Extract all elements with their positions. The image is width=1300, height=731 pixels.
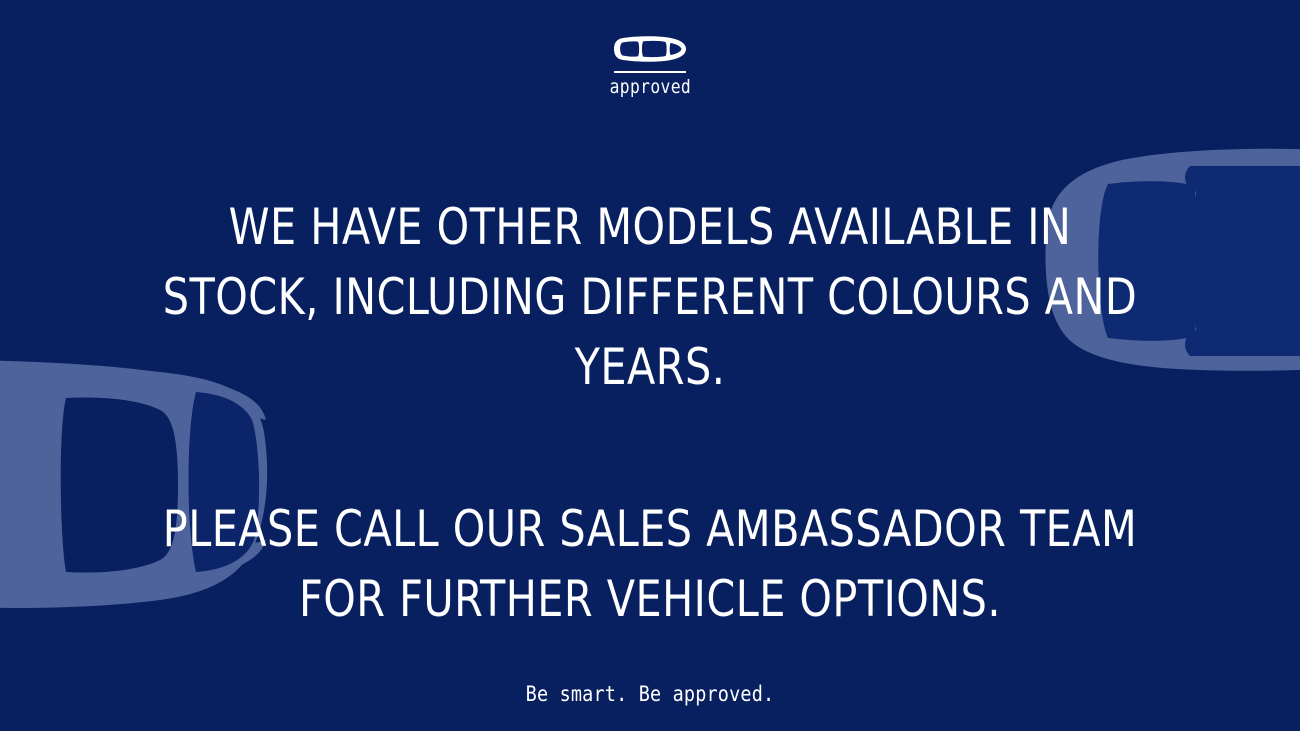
message-line: WE HAVE OTHER MODELS AVAILABLE IN (52, 192, 1248, 262)
message-line: YEARS. (52, 332, 1248, 402)
message-paragraph-2: PLEASE CALL OUR SALES AMBASSADOR TEAM FO… (52, 494, 1248, 634)
message-line: STOCK, INCLUDING DIFFERENT COLOURS AND (52, 262, 1248, 332)
brand-divider (614, 71, 686, 73)
paragraph-spacer (0, 402, 1300, 494)
tagline: Be smart. Be approved. (78, 634, 1222, 707)
message-line: FOR FURTHER VEHICLE OPTIONS. (52, 564, 1248, 634)
message-paragraph-1: WE HAVE OTHER MODELS AVAILABLE IN STOCK,… (52, 192, 1248, 402)
slide-canvas: approved WE HAVE OTHER MODELS AVAILABLE … (0, 0, 1300, 731)
message-line: PLEASE CALL OUR SALES AMBASSADOR TEAM (52, 494, 1248, 564)
brand-wordmark: approved (609, 78, 690, 97)
car-top-view-icon (613, 34, 687, 64)
message-copy: WE HAVE OTHER MODELS AVAILABLE IN STOCK,… (0, 192, 1300, 707)
brand-lockup: approved (0, 34, 1300, 97)
